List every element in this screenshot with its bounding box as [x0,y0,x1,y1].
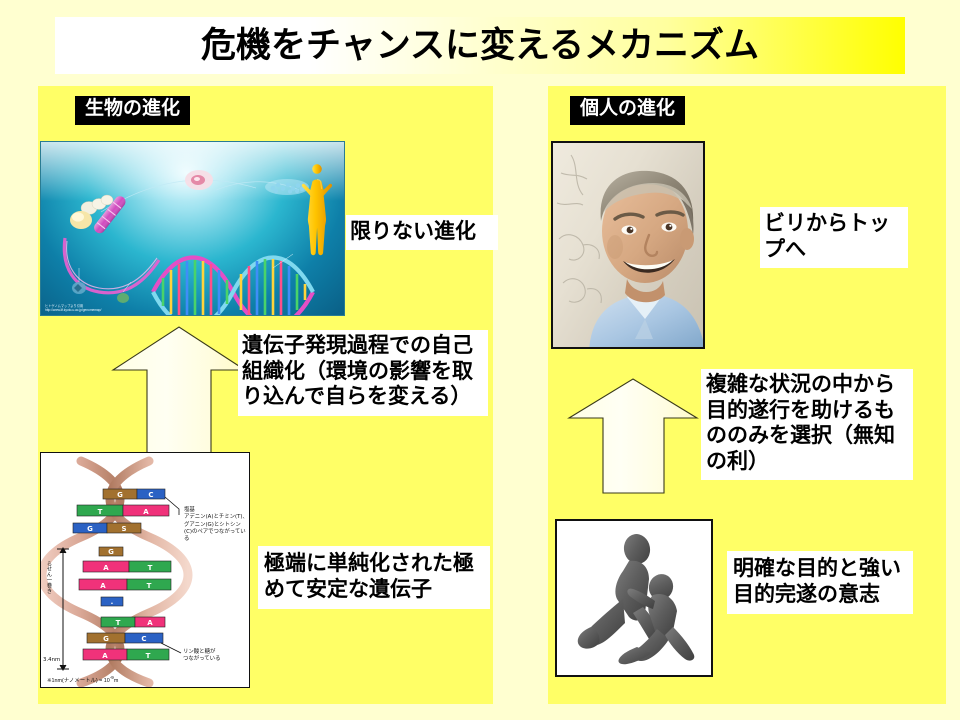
man-illustration [553,143,705,349]
svg-text:A: A [103,564,109,572]
svg-text:C: C [148,491,153,499]
svg-text:G: G [87,525,93,533]
up-arrow-individual [566,376,700,496]
dna-pitch-label: らせん一巻き [45,561,50,653]
svg-text:A: A [100,582,106,590]
page-title: 危機をチャンスに変えるメカニズム [55,17,905,74]
svg-text:A: A [143,508,149,516]
dna-pitch-value: 3.4nm [43,657,69,664]
svg-text:T: T [98,508,103,516]
svg-text:T: T [146,652,151,660]
svg-text:G: G [103,635,109,643]
dna-backbone-label: リン酸と糖がつながっている [183,649,245,664]
svg-text:.: . [111,598,114,606]
svg-text:G: G [117,491,123,499]
portrait-photo-smiling-man [551,141,705,349]
svg-text:G: G [108,548,114,556]
dna-footnote: ※1nm(ナノメートル) = 10-9m [47,675,118,684]
callout-clear-purpose: 明確な目的と強い目的完遂の意志 [727,551,913,614]
svg-text:C: C [141,635,146,643]
callout-simplified-gene: 極端に単純化された極めて安定な遺伝子 [258,546,490,609]
genome-map-caption: ヒトゲノムマップより引用http://www.lif.kyoto-u.ac.jp… [45,305,101,313]
callout-limitless-evolution: 限りない進化 [346,215,498,250]
section-header-biological: 生物の進化 [75,96,190,125]
genome-map-diagram: ヒトゲノムマップより引用http://www.lif.kyoto-u.ac.jp… [40,141,345,316]
svg-text:S: S [121,525,126,533]
svg-text:A: A [147,619,153,627]
dna-double-helix-diagram: GC TA GS G AT AT . TA GC AT [40,452,250,688]
slide-canvas: 危機をチャンスに変えるメカニズム 生物の進化 [0,0,960,720]
running-figures-silhouette [555,519,713,677]
genome-map-graphics [41,142,345,316]
svg-text:T: T [147,582,152,590]
svg-text:T: T [148,564,153,572]
section-header-individual: 個人の進化 [570,96,685,125]
callout-last-to-top: ビリからトップへ [760,207,908,268]
callout-self-organization: 遺伝子発現過程での自己組織化（環境の影響を取り込んで自らを変える） [238,330,488,416]
dna-base-label: 塩基アデニン(A)とチミン(T)、グアニン(G)とシトシン(C)のペアでつながっ… [184,507,248,543]
svg-text:A: A [102,652,108,660]
up-arrow-biological [110,323,248,457]
svg-text:T: T [116,619,121,627]
callout-complex-selection: 複雑な状況の中から目的遂行を助けるもののみを選択（無知の利） [701,369,913,480]
